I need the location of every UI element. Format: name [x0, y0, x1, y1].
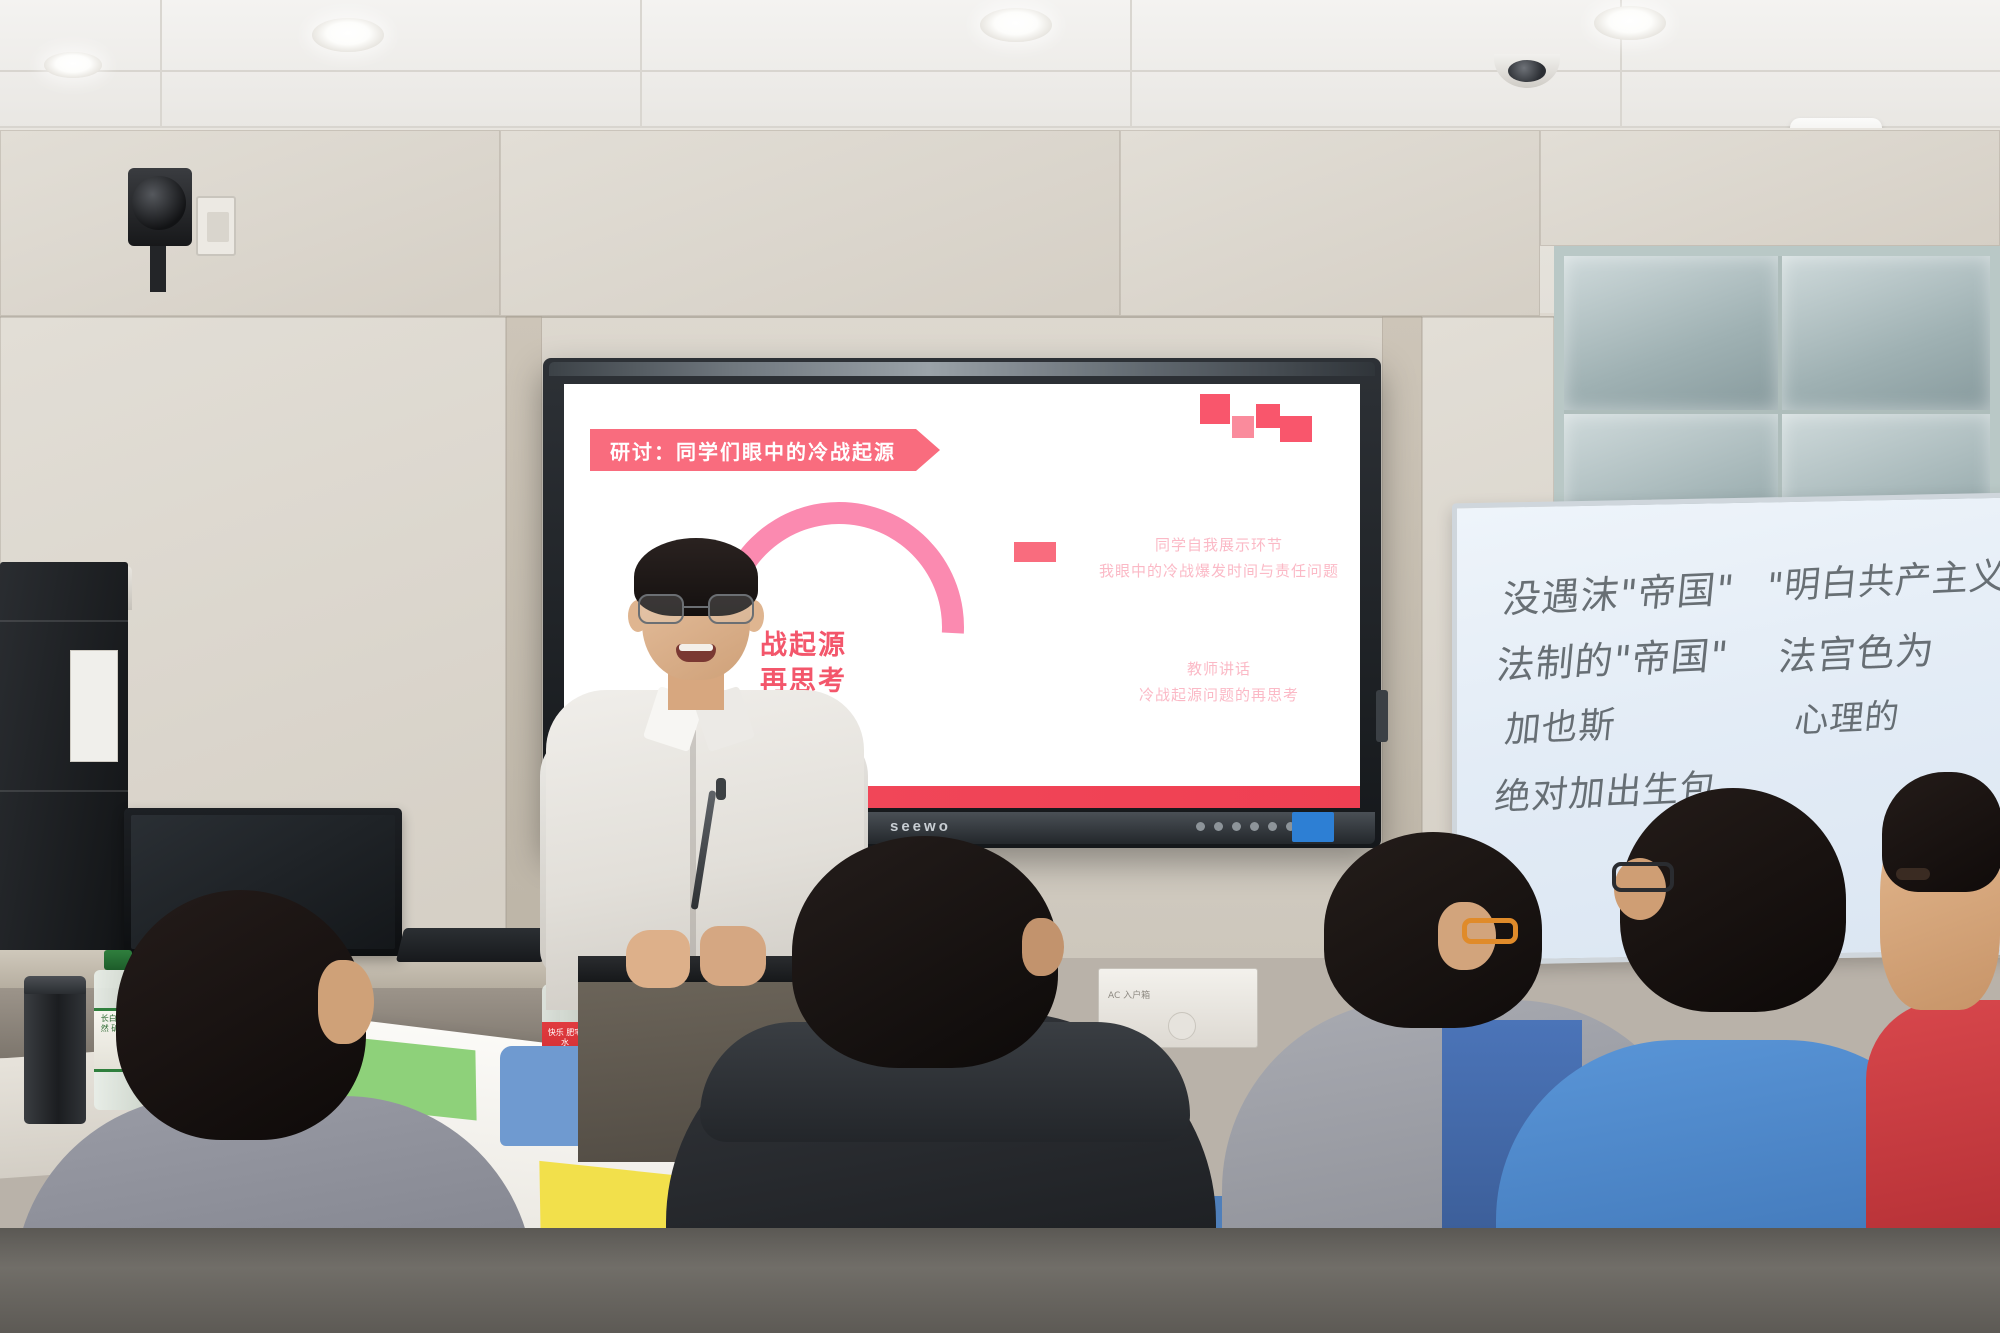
student-1-ear: [318, 960, 374, 1044]
ceiling-seam: [0, 70, 2000, 72]
shirt-placket: [690, 730, 696, 970]
display-side-button[interactable]: [1376, 690, 1388, 742]
indicator-dot: [1268, 822, 1277, 831]
wall-box-dial: [1168, 1012, 1196, 1040]
display-surround: [506, 316, 542, 952]
thermos-flask[interactable]: [24, 986, 86, 1124]
slide-headline-line1: 战起源: [760, 628, 847, 664]
agenda-item-title: 同学自我展示环节: [1084, 532, 1354, 558]
whiteboard-note: 心理的: [1793, 688, 1903, 742]
ceiling-light: [312, 18, 384, 52]
ptz-camera-icon: [132, 176, 186, 230]
thermos-cap: [24, 976, 86, 994]
decorative-square: [1232, 416, 1254, 438]
agenda-item: 教师讲话 冷战起源问题的再思考: [1084, 656, 1354, 709]
wall-panel: [1120, 130, 1540, 316]
indicator-dot: [1250, 822, 1259, 831]
wall-socket-plate[interactable]: [196, 196, 236, 256]
whiteboard-note: 法制的"帝国": [1494, 624, 1731, 690]
decorative-square: [1280, 416, 1312, 442]
agenda-item: 同学自我展示环节 我眼中的冷战爆发时间与责任问题: [1084, 532, 1354, 585]
agenda-item-subtitle: 冷战起源问题的再思考: [1084, 682, 1354, 708]
window-pane: [1782, 256, 1990, 410]
whiteboard-note: "明白共产主义": [1765, 546, 2000, 610]
ceiling-seam-vertical: [640, 0, 642, 128]
wall-box-label: AC 入户箱: [1108, 988, 1150, 1001]
glasses-bridge: [684, 606, 708, 608]
wall-panel: [1540, 130, 2000, 246]
whiteboard-note: 法宫色为: [1776, 619, 1937, 681]
student-3-glasses-icon: [1462, 918, 1518, 944]
nfc-reader-icon[interactable]: [1292, 812, 1334, 842]
cabinet-seam: [0, 790, 128, 792]
wall-panel: [0, 130, 500, 316]
student-4-glasses-icon: [1612, 862, 1674, 892]
classroom-scene: 没遇沫"帝国" 法制的"帝国" 加也斯 绝对加出生包 "明白共产主义" 法宫色为…: [0, 0, 2000, 1333]
whiteboard-note: 没遇沫"帝国": [1500, 558, 1737, 624]
glasses-lens-right: [708, 594, 754, 624]
slide-banner-title: 研讨：同学们眼中的冷战起源: [590, 429, 916, 471]
keyboard[interactable]: [396, 928, 552, 962]
window-pane: [1564, 256, 1778, 410]
cabinet-label: [70, 650, 118, 762]
presenter-right-hand: [700, 926, 766, 986]
indicator-dot: [1214, 822, 1223, 831]
floor-shadow: [0, 1228, 2000, 1268]
wall-seam: [542, 316, 1382, 318]
display-top-strip: [549, 362, 1375, 376]
presenter-left-hand: [626, 930, 690, 988]
indicator-dot: [1196, 822, 1205, 831]
display-brand-label: seewo: [890, 818, 951, 835]
glasses-lens-left: [638, 594, 684, 624]
ceiling-seam-vertical: [160, 0, 162, 128]
wall-panel: [500, 130, 1120, 316]
cabinet-seam: [0, 620, 128, 622]
agenda-item-subtitle: 我眼中的冷战爆发时间与责任问题: [1084, 558, 1354, 584]
agenda-marker: [1014, 542, 1056, 562]
agenda-item-title: 教师讲话: [1084, 656, 1354, 682]
student-5-eye: [1896, 868, 1930, 880]
av-rack-cabinet[interactable]: [0, 562, 128, 982]
presenter-mouth: [676, 644, 716, 662]
ceiling-light: [980, 8, 1052, 42]
student-2-ear: [1022, 918, 1064, 976]
ceiling-light: [1594, 6, 1666, 40]
eyeglasses-icon: [638, 594, 754, 624]
display-indicator-dots: [1196, 822, 1295, 831]
ptz-camera-arm: [150, 246, 166, 292]
ceiling-light: [44, 52, 102, 78]
lapel-microphone-icon: [716, 778, 726, 800]
decorative-square: [1200, 394, 1230, 424]
whiteboard-note: 加也斯: [1503, 696, 1619, 753]
student-2-hair: [792, 836, 1058, 1068]
window-mullion: [1564, 410, 1990, 414]
decorative-square: [1256, 404, 1280, 428]
ceiling-seam-vertical: [1130, 0, 1132, 128]
indicator-dot: [1232, 822, 1241, 831]
